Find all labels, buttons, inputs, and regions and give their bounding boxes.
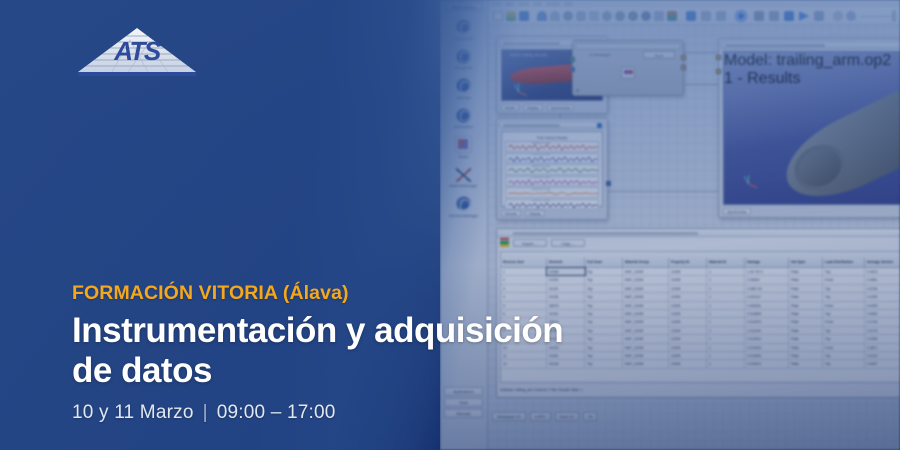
promo-separator: |: [194, 402, 217, 423]
promo-hours: 09:00 – 17:00: [217, 402, 336, 423]
pyramid-base-bar: [78, 72, 196, 76]
logo-wordmark: ATS: [113, 36, 162, 66]
promo-meta: 10 y 11 Marzo|09:00 – 17:00: [72, 402, 672, 424]
promo-title: Instrumentación y adquisición de datos: [72, 311, 672, 390]
promo-dates: 10 y 11 Marzo: [72, 402, 194, 423]
promo-title-line1: Instrumentación y adquisición: [72, 311, 672, 351]
training-promo-banner: Model: trailing_arm.op2 Model Display Sy…: [0, 0, 900, 450]
ats-logo[interactable]: ATS: [72, 24, 202, 80]
promo-title-line2: de datos: [72, 351, 672, 391]
promo-eyebrow: FORMACIÓN VITORIA (Álava): [72, 282, 672, 305]
promo-copy: FORMACIÓN VITORIA (Álava) Instrumentació…: [72, 282, 672, 424]
